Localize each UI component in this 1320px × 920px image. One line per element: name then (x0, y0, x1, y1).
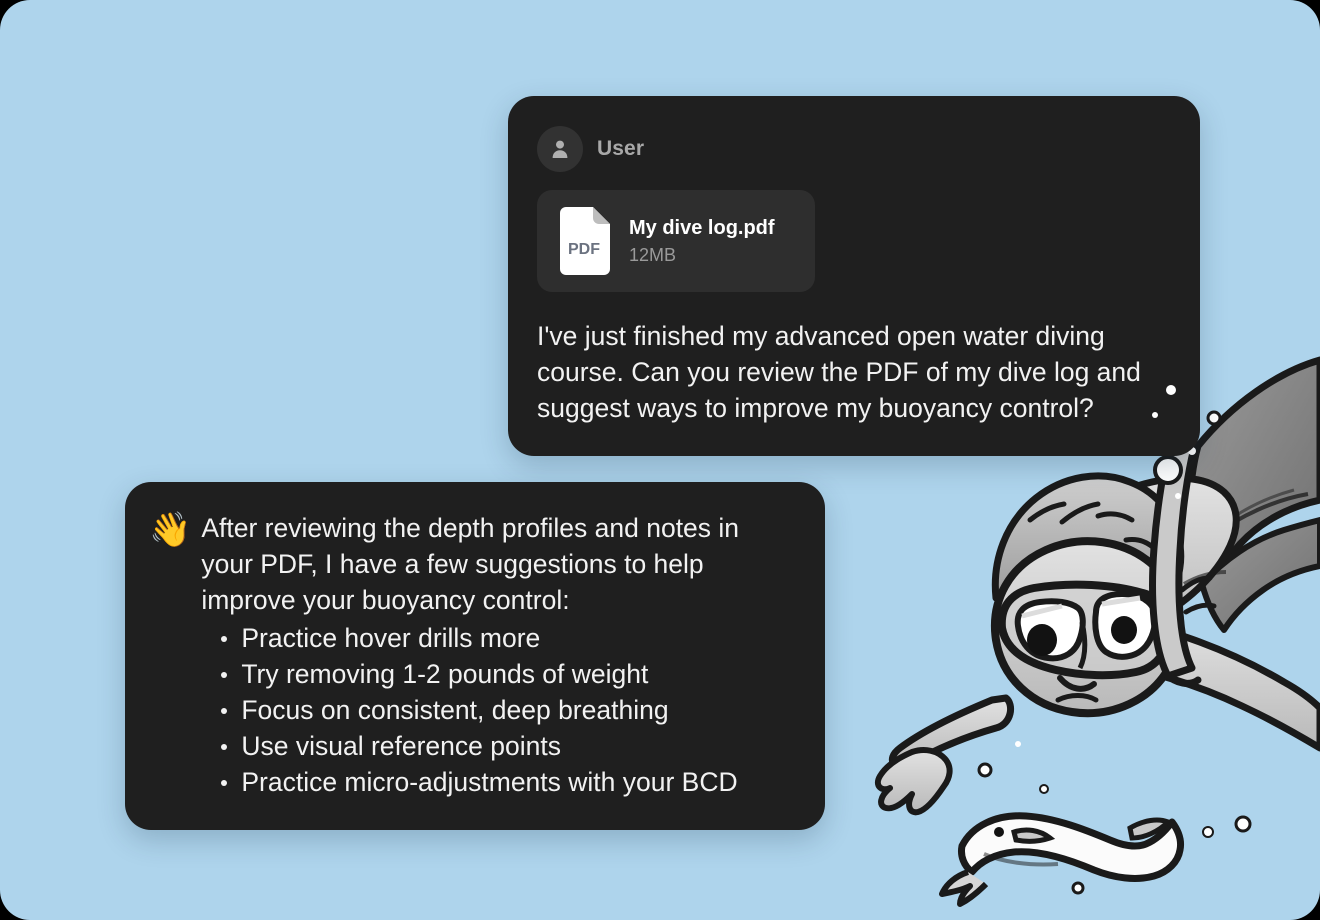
air-bubble (1236, 817, 1250, 831)
svg-text:PDF: PDF (568, 241, 600, 258)
suit-fold-line (1232, 490, 1294, 518)
user-message-bubble: User PDF My dive log.pdf 12MB I've just … (508, 96, 1200, 456)
sender-name: User (597, 137, 644, 161)
assistant-message-bubble: 👋 After reviewing the depth profiles and… (125, 482, 825, 830)
attachment-filesize: 12MB (629, 245, 775, 266)
wetsuit-shorts (1190, 360, 1320, 592)
diver-left-arm (892, 698, 1010, 767)
assistant-body: After reviewing the depth profiles and n… (201, 510, 795, 800)
hair-stroke (1098, 514, 1132, 520)
lens-glare (1102, 598, 1140, 604)
air-bubble (1015, 741, 1021, 747)
pdf-file-icon: PDF (555, 206, 611, 276)
eye-left (1027, 624, 1057, 656)
attachment-card[interactable]: PDF My dive log.pdf 12MB (537, 190, 815, 292)
torso-shade-line (1184, 572, 1226, 584)
mask-lens-left (1018, 601, 1083, 658)
diver-torso (1034, 478, 1236, 638)
user-message-text: I've just finished my advanced open wate… (537, 318, 1168, 426)
fish-dorsal-fin (1014, 830, 1050, 841)
fish-eye (994, 827, 1004, 837)
suggestion-list: Practice hover drills more Try removing … (201, 620, 795, 800)
air-bubble (1208, 412, 1220, 424)
diver-head (995, 541, 1180, 713)
screen-canvas: User PDF My dive log.pdf 12MB I've just … (0, 0, 1320, 920)
fish-body (961, 816, 1180, 879)
list-item: Practice hover drills more (219, 620, 795, 656)
list-item: Use visual reference points (219, 728, 795, 764)
wetsuit-cuff (1202, 520, 1320, 630)
list-item: Focus on consistent, deep breathing (219, 692, 795, 728)
eye-right (1111, 616, 1137, 644)
hair-stroke (1126, 539, 1156, 550)
mask-lens-right (1095, 594, 1155, 657)
attachment-filename: My dive log.pdf (629, 217, 775, 240)
air-bubble (1073, 883, 1083, 893)
assistant-content: 👋 After reviewing the depth profiles and… (149, 510, 795, 800)
dive-mask (1002, 585, 1171, 676)
hair-stroke (1030, 504, 1064, 520)
snorkel-tube (1153, 444, 1194, 676)
motion-tick (1186, 605, 1214, 612)
diver-right-arm (1095, 620, 1320, 748)
fish-tail (942, 872, 986, 904)
diver-left-hand (878, 750, 950, 812)
air-bubble (1040, 785, 1048, 793)
suit-fold-line (1213, 494, 1308, 536)
hair-stroke (1062, 504, 1098, 522)
list-item: Practice micro-adjustments with your BCD (219, 764, 795, 800)
snorkel-mouthpiece (1166, 674, 1198, 683)
list-item: Try removing 1-2 pounds of weight (219, 656, 795, 692)
fish (942, 816, 1181, 904)
nose (1060, 678, 1094, 689)
mouth (1058, 696, 1096, 701)
fish-belly-line (984, 854, 1058, 865)
diver-hair (995, 476, 1180, 598)
lens-glare (1022, 606, 1062, 616)
motion-tick (1182, 578, 1210, 590)
person-icon (537, 126, 583, 172)
message-header: User (537, 126, 1168, 172)
air-bubble (1203, 827, 1213, 837)
air-bubble (1155, 457, 1181, 483)
air-bubble (1175, 493, 1181, 499)
waving-hand-emoji: 👋 (149, 511, 191, 549)
attachment-meta: My dive log.pdf 12MB (629, 217, 775, 266)
assistant-intro-text: After reviewing the depth profiles and n… (201, 510, 795, 618)
air-bubble (979, 764, 991, 776)
mask-bridge (1080, 622, 1085, 668)
fish-fin (1130, 820, 1168, 838)
bubble-group (979, 384, 1250, 893)
